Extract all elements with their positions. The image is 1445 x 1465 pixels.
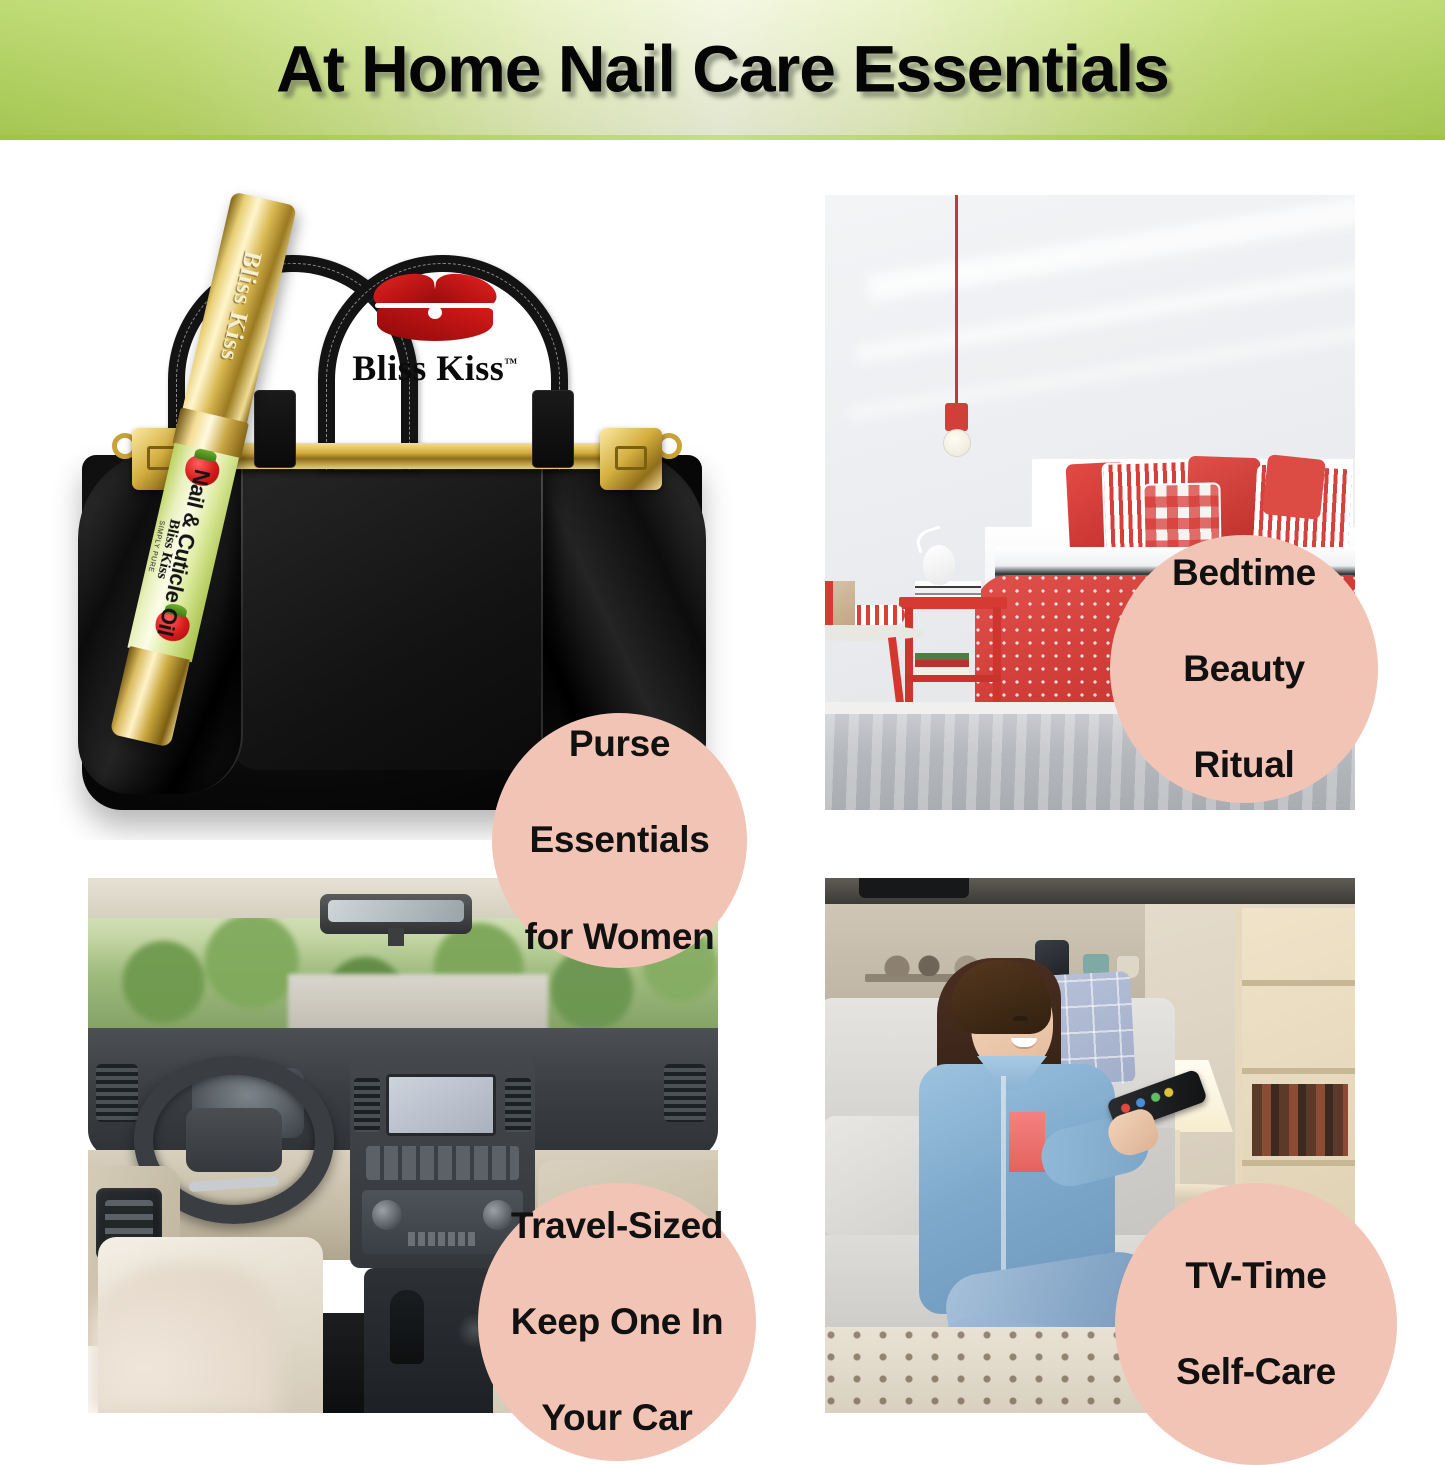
callout-bedroom: Bedtime Beauty Ritual — [1110, 535, 1378, 803]
panel-purse: Bliss Kiss™ Bliss Kiss Nail & Cuticle Oi… — [40, 185, 740, 840]
callout-line: Your Car — [511, 1394, 724, 1442]
callout-line: Essentials — [525, 816, 715, 864]
brand-wordmark: Bliss Kiss™ — [340, 347, 530, 389]
pink-top — [1009, 1112, 1045, 1172]
callout-line: TV-Time — [1176, 1252, 1336, 1300]
nightstand-top — [899, 597, 1007, 609]
header-banner: At Home Nail Care Essentials — [0, 0, 1445, 140]
callout-line: Purse — [525, 720, 715, 768]
pen-base — [110, 646, 191, 748]
gear-shifter — [390, 1290, 424, 1364]
callout-car: Travel-Sized Keep One In Your Car — [478, 1183, 756, 1461]
books-on-nightstand — [915, 581, 981, 597]
foreground-blur — [88, 1263, 278, 1413]
callout-purse: Purse Essentials for Women — [492, 713, 747, 968]
callout-line: Beauty — [1172, 645, 1316, 693]
air-vent — [354, 1078, 380, 1132]
red-lips-icon — [371, 275, 499, 341]
pen-cap: Bliss Kiss — [182, 191, 297, 425]
bookshelf-shelf — [1242, 1160, 1355, 1166]
mirror-stem — [388, 928, 404, 946]
gift-box — [825, 581, 855, 625]
shirt-placket — [1001, 1076, 1006, 1286]
trademark-symbol: ™ — [504, 355, 518, 370]
pen-label: Nail & Cuticle Oil Bliss Kiss SIMPLY PUR… — [127, 443, 239, 662]
eye — [1013, 1016, 1028, 1021]
callout-living-room: TV-Time Self-Care — [1115, 1183, 1397, 1465]
pendant-bulb-icon — [943, 429, 971, 457]
panel-living-room: TV-Time Self-Care — [825, 878, 1355, 1413]
steering-wheel-spoke — [189, 1176, 279, 1192]
air-vent — [664, 1064, 706, 1122]
pen-cap-engraving: Bliss Kiss — [214, 248, 267, 364]
pendant-cord — [955, 195, 958, 407]
chair-seat — [825, 625, 925, 641]
tv-mount — [859, 878, 969, 898]
callout-line: Self-Care — [1176, 1348, 1336, 1396]
air-vent — [96, 1064, 138, 1122]
panel-bedroom: Bedtime Beauty Ritual — [825, 195, 1355, 810]
eyebrow — [1009, 1008, 1031, 1011]
climate-knob — [372, 1200, 402, 1230]
climate-knob — [483, 1200, 513, 1230]
handle-tab-right — [532, 390, 574, 468]
climate-buttons — [408, 1232, 477, 1246]
brand-name: Bliss Kiss — [352, 348, 504, 388]
callout-line: Travel-Sized — [511, 1202, 724, 1250]
page-title: At Home Nail Care Essentials — [0, 30, 1445, 106]
handbag-clasp-right — [600, 428, 662, 490]
bookshelf-shelf — [1242, 980, 1355, 986]
callout-line: for Women — [525, 913, 715, 961]
infotainment-screen — [386, 1074, 496, 1136]
books-on-shelf — [1252, 1084, 1348, 1156]
pendant-socket — [945, 403, 968, 431]
brand-logo: Bliss Kiss™ — [340, 275, 530, 389]
climate-control-panel — [362, 1190, 523, 1254]
callout-line: Keep One In — [511, 1298, 724, 1346]
callout-line: Bedtime — [1172, 549, 1316, 597]
callout-line: Ritual — [1172, 741, 1316, 789]
pillow-red — [1262, 454, 1326, 520]
air-vent — [505, 1078, 531, 1132]
deer-figurine-icon — [923, 545, 955, 585]
bookshelf-shelf — [1242, 1068, 1355, 1074]
radio-buttons — [366, 1146, 519, 1180]
